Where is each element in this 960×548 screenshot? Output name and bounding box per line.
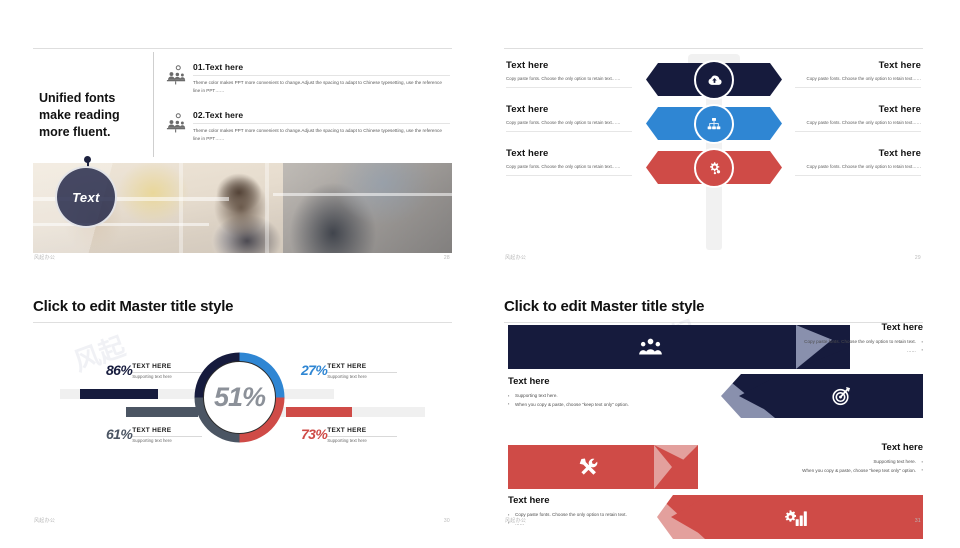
slide-footer: 风起办公 31: [504, 513, 923, 524]
label-subtitle: Supporting text here: [132, 438, 202, 443]
percent-value: 61%: [106, 427, 132, 441]
percent-value: 86%: [106, 363, 132, 377]
donut-label-61: 61% TEXT HERE Supporting text here: [106, 427, 202, 443]
org-chart-icon[interactable]: [694, 104, 734, 144]
growth-chart-gear-icon: [774, 495, 818, 539]
header-divider: [504, 48, 923, 49]
row-body: Copy paste fonts. Choose the only option…: [506, 163, 632, 171]
value-bar-61: [126, 407, 198, 417]
row-body: Copy paste fonts. Choose the only option…: [795, 163, 921, 171]
slide-thumbnail-28[interactable]: Unified fonts make reading more fluent. …: [33, 46, 452, 261]
bullet-item: Copy paste fonts. Choose the only option…: [709, 338, 923, 347]
footer-brand: 风起办公: [505, 517, 526, 524]
window-mullion: [179, 163, 183, 253]
block-heading: Text here: [508, 495, 708, 506]
text-block-4: Text here Supporting text here. When you…: [709, 442, 923, 475]
donut-label-27: 27% TEXT HERE Supporting text here: [301, 363, 397, 379]
bullet-item: Supporting text here.: [709, 458, 923, 467]
numbered-item-01[interactable]: 01.Text here Theme color makes PPT more …: [165, 62, 450, 95]
slide-footer: 风起办公 29: [504, 250, 923, 261]
donut-center: 51%: [203, 361, 276, 434]
vertical-divider: [153, 52, 154, 157]
numbered-item-02[interactable]: 02.Text here Theme color makes PPT more …: [165, 110, 450, 143]
row-divider: [795, 175, 921, 176]
label-title: TEXT HERE: [327, 427, 397, 434]
block-bullets: Copy paste fonts. Choose the only option…: [709, 338, 923, 355]
railing: [273, 193, 452, 196]
item-divider: [193, 75, 450, 76]
row-text-left: Text here Copy paste fonts. Choose the o…: [506, 104, 632, 132]
row-heading: Text here: [795, 60, 921, 71]
page-number: 31: [915, 518, 921, 524]
row-heading: Text here: [506, 104, 632, 115]
row-heading: Text here: [506, 60, 632, 71]
percent-value: 27%: [301, 363, 327, 377]
row-body: Copy paste fonts. Choose the only option…: [795, 75, 921, 83]
railing: [33, 223, 209, 226]
row-body: Copy paste fonts. Choose the only option…: [795, 119, 921, 127]
window-mullion: [265, 163, 269, 253]
value-bar-27: [286, 389, 316, 399]
block-bullets: Supporting text here. When you copy & pa…: [508, 392, 708, 409]
target-dart-icon: [819, 374, 863, 418]
item-divider: [193, 123, 450, 124]
item-heading: 02.Text here: [193, 110, 450, 120]
footer-brand: 风起办公: [505, 254, 526, 261]
slide-footer: 风起办公 28: [33, 250, 452, 261]
slide-thumbnail-30[interactable]: Click to edit Master title style 风起 51% …: [33, 292, 452, 524]
page-title: Unified fonts make reading more fluent.: [39, 90, 149, 141]
block-heading: Text here: [508, 376, 708, 387]
presentation-people-icon: [165, 65, 187, 85]
signpost-row-1[interactable]: Text here Copy paste fonts. Choose the o…: [504, 60, 923, 104]
title-divider: [33, 322, 452, 323]
slide-thumbnail-31[interactable]: Click to edit Master title style 风起: [504, 292, 923, 524]
value-bar-73: [286, 407, 352, 417]
percent-value: 73%: [301, 427, 327, 441]
donut-center-value: 51%: [214, 382, 265, 413]
label-subtitle: Supporting text here: [327, 374, 397, 379]
row-divider: [506, 131, 632, 132]
block-heading: Text here: [709, 322, 923, 333]
label-title: TEXT HERE: [132, 427, 202, 434]
row-text-left: Text here Copy paste fonts. Choose the o…: [506, 60, 632, 88]
label-title: TEXT HERE: [132, 363, 202, 370]
donut-chart[interactable]: 51%: [189, 347, 290, 448]
donut-label-86: 86% TEXT HERE Supporting text here: [106, 363, 202, 379]
group-people-icon: [628, 325, 672, 369]
label-subtitle: Supporting text here: [132, 374, 202, 379]
block-bullets: Supporting text here. When you copy & pa…: [709, 458, 923, 475]
presentation-people-icon: [165, 113, 187, 133]
row-heading: Text here: [506, 148, 632, 159]
bullet-item: ……: [709, 347, 923, 356]
slide-thumbnail-29[interactable]: Text here Copy paste fonts. Choose the o…: [504, 46, 923, 261]
page-title: Click to edit Master title style: [504, 298, 704, 315]
row-text-right: Text here Copy paste fonts. Choose the o…: [795, 104, 921, 132]
row-divider: [795, 87, 921, 88]
item-heading: 01.Text here: [193, 62, 450, 72]
row-divider: [506, 87, 632, 88]
item-body: Theme color makes PPT more convenient to…: [193, 127, 450, 143]
row-body: Copy paste fonts. Choose the only option…: [506, 75, 632, 83]
item-body: Theme color makes PPT more convenient to…: [193, 79, 450, 95]
row-body: Copy paste fonts. Choose the only option…: [506, 119, 632, 127]
row-heading: Text here: [795, 148, 921, 159]
gears-settings-icon[interactable]: [694, 148, 734, 188]
donut-label-73: 73% TEXT HERE Supporting text here: [301, 427, 397, 443]
text-block-1: Text here Supporting text here. When you…: [508, 376, 708, 409]
page-number: 29: [915, 255, 921, 261]
row-text-right: Text here Copy paste fonts. Choose the o…: [795, 60, 921, 88]
value-bar-86: [80, 389, 158, 399]
header-divider: [33, 48, 452, 49]
window-glass: [283, 163, 452, 253]
row-text-right: Text here Copy paste fonts. Choose the o…: [795, 148, 921, 176]
bullet-item: Supporting text here.: [508, 392, 708, 401]
page-number: 30: [444, 518, 450, 524]
slide-thumbnail-deck: Unified fonts make reading more fluent. …: [0, 0, 960, 548]
footer-brand: 风起办公: [34, 254, 55, 261]
tools-hammer-wrench-icon: [566, 445, 610, 489]
label-underline: [327, 372, 397, 373]
page-title: Click to edit Master title style: [33, 298, 233, 315]
block-heading: Text here: [709, 442, 923, 453]
row-text-left: Text here Copy paste fonts. Choose the o…: [506, 148, 632, 176]
bullet-item: When you copy & paste, choose "keep text…: [508, 401, 708, 410]
label-underline: [132, 436, 202, 437]
text-block-2: Text here Copy paste fonts. Choose the o…: [709, 322, 923, 355]
cloud-upload-icon[interactable]: [694, 60, 734, 100]
slide-footer: 风起办公 30: [33, 513, 452, 524]
page-number: 28: [444, 255, 450, 261]
footer-brand: 风起办公: [34, 517, 55, 524]
label-title: TEXT HERE: [327, 363, 397, 370]
row-heading: Text here: [795, 104, 921, 115]
photo-text-badge[interactable]: Text: [55, 166, 117, 228]
signpost-row-2[interactable]: Text here Copy paste fonts. Choose the o…: [504, 104, 923, 148]
row-divider: [795, 131, 921, 132]
label-underline: [327, 436, 397, 437]
label-underline: [132, 372, 202, 373]
signpost-row-3[interactable]: Text here Copy paste fonts. Choose the o…: [504, 148, 923, 192]
bullet-item: When you copy & paste, choose "keep text…: [709, 467, 923, 476]
label-subtitle: Supporting text here: [327, 438, 397, 443]
row-divider: [506, 175, 632, 176]
